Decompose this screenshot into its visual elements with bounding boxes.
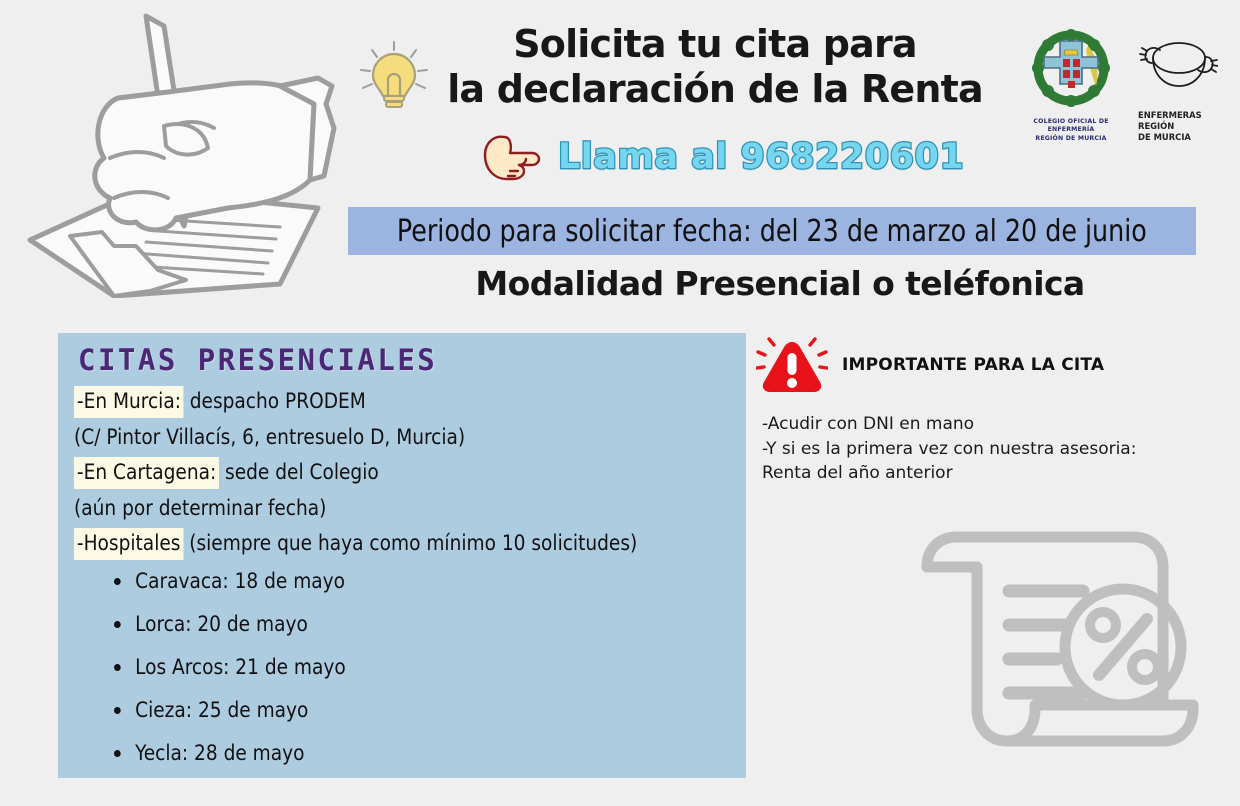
important-line: -Y si es la primera vez con nuestra ases… <box>762 437 1202 462</box>
hand-writing-pen-icon <box>18 8 348 298</box>
period-banner: Periodo para solicitar fecha: del 23 de … <box>348 207 1196 255</box>
panel-line-highlight: -Hospitales <box>74 528 183 560</box>
panel-title: CITAS PRESENCIALES <box>78 343 437 377</box>
panel-line: -Hospitales (siempre que haya como mínim… <box>74 533 710 555</box>
list-item: Yecla: 28 de mayo <box>114 741 711 766</box>
logo-enfermeras-caption: ENFERMERAS REGIÓN DE MURCIA <box>1138 110 1218 143</box>
panel-line: (aún por determinar fecha) <box>74 498 710 520</box>
panel-body: -En Murcia: despacho PRODEM (C/ Pintor V… <box>74 391 736 784</box>
panel-line-rest: despacho PRODEM <box>184 389 366 414</box>
panel-line-highlight: -En Murcia: <box>74 386 184 418</box>
panel-line-rest: sede del Colegio <box>219 460 379 485</box>
logo-enfermeras-caption-line-3: DE MURCIA <box>1138 132 1218 143</box>
modalidad-subtitle: Modalidad Presencial o teléfonica <box>430 264 1130 303</box>
phone-call-text: Llama al 968220601 <box>558 137 964 177</box>
logo-enfermeras-caption-line-2: REGIÓN <box>1138 121 1218 132</box>
panel-line-rest: (C/ Pintor Villacís, 6, entresuelo D, Mu… <box>74 425 465 450</box>
important-line: Renta del año anterior <box>762 461 1202 486</box>
panel-line: -En Murcia: despacho PRODEM <box>74 391 710 413</box>
important-line: -Acudir con DNI en mano <box>762 412 1202 437</box>
important-header: IMPORTANTE PARA LA CITA <box>756 336 1104 394</box>
call-phone-row: Llama al 968220601 <box>480 126 980 188</box>
important-body: -Acudir con DNI en mano -Y si es la prim… <box>762 412 1202 486</box>
citas-presenciales-panel: CITAS PRESENCIALES -En Murcia: despacho … <box>58 333 746 778</box>
pointing-hand-right-icon <box>480 131 542 183</box>
logo-colegio-caption-line-2: REGIÓN DE MURCIA <box>1018 135 1124 143</box>
logo-enfermeras-caption-line-1: ENFERMERAS <box>1138 110 1218 121</box>
hospital-dates-list: Caravaca: 18 de mayo Lorca: 20 de mayo L… <box>74 569 736 766</box>
logo-enfermeras: ENFERMERAS REGIÓN DE MURCIA <box>1138 28 1218 143</box>
list-item: Cieza: 25 de mayo <box>114 698 711 723</box>
important-title: IMPORTANTE PARA LA CITA <box>842 355 1104 375</box>
logo-colegio-caption-line-1: COLEGIO OFICIAL DE ENFERMERÍA <box>1018 118 1124 135</box>
logo-group: COLEGIO OFICIAL DE ENFERMERÍA REGIÓN DE … <box>1018 28 1218 146</box>
enfermeras-hands-bowl-icon <box>1138 28 1218 102</box>
page-title: Solicita tu cita para la declaración de … <box>420 22 1010 112</box>
period-banner-text: Periodo para solicitar fecha: del 23 de … <box>397 214 1147 249</box>
logo-colegio: COLEGIO OFICIAL DE ENFERMERÍA REGIÓN DE … <box>1018 28 1124 143</box>
poster-root: Solicita tu cita para la declaración de … <box>0 0 1240 806</box>
list-item: Los Arcos: 21 de mayo <box>114 655 711 680</box>
headline-line-1: Solicita tu cita para <box>513 22 917 66</box>
list-item: Lorca: 20 de mayo <box>114 612 711 637</box>
panel-line-rest: (siempre que haya como mínimo 10 solicit… <box>183 531 637 556</box>
receipt-percent-icon <box>905 495 1205 750</box>
headline-line-2: la declaración de la Renta <box>420 67 1010 112</box>
colegio-enfermeria-emblem-icon <box>1030 28 1112 110</box>
logo-colegio-caption: COLEGIO OFICIAL DE ENFERMERÍA REGIÓN DE … <box>1018 118 1124 143</box>
panel-line-highlight: -En Cartagena: <box>74 457 219 489</box>
panel-line-rest: (aún por determinar fecha) <box>74 496 326 521</box>
alert-triangle-icon <box>756 336 828 394</box>
panel-line: -En Cartagena: sede del Colegio <box>74 462 710 484</box>
panel-line: (C/ Pintor Villacís, 6, entresuelo D, Mu… <box>74 427 710 449</box>
list-item: Caravaca: 18 de mayo <box>114 569 711 594</box>
